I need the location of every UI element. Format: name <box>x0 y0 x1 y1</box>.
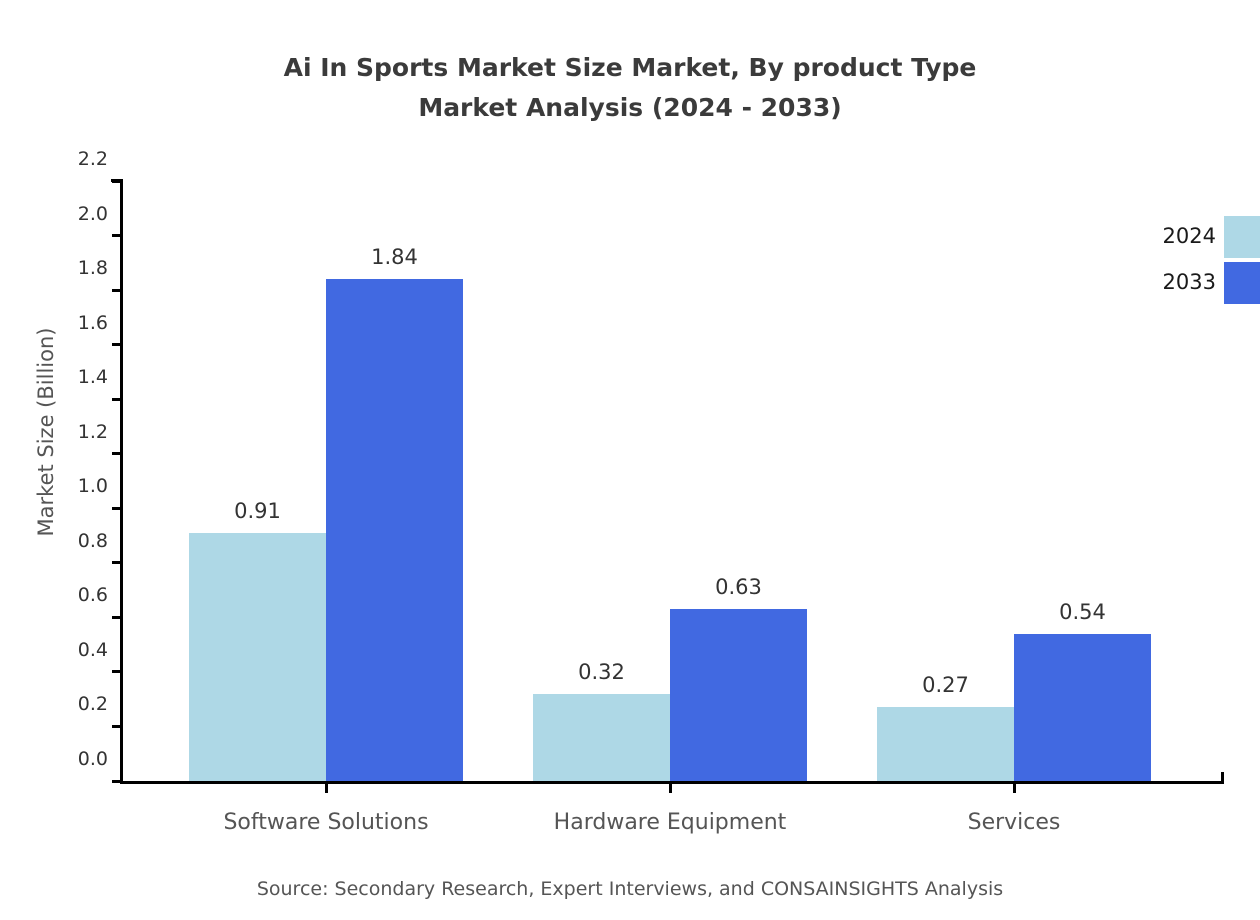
x-axis-tick-label-software-solutions: Software Solutions <box>156 810 496 835</box>
bar-value-label: 0.91 <box>178 499 338 523</box>
source-note: Source: Secondary Research, Expert Inter… <box>0 878 1260 900</box>
legend-swatch-2033 <box>1224 262 1260 304</box>
y-axis-tick-label: 1.0 <box>28 475 108 497</box>
y-axis-tick <box>112 616 121 619</box>
y-axis-tick <box>112 180 121 183</box>
bar-value-label: 1.84 <box>315 245 475 269</box>
legend-item-2033[interactable]: 2033 <box>1120 262 1260 304</box>
y-axis-tick <box>112 452 121 455</box>
y-axis-tick-label: 0.0 <box>28 748 108 770</box>
x-axis-spine <box>120 781 1223 784</box>
y-axis-tick-label: 0.2 <box>28 693 108 715</box>
chart-title: Ai In Sports Market Size Market, By prod… <box>0 48 1260 128</box>
y-axis-tick <box>112 234 121 237</box>
y-axis-tick <box>112 780 121 783</box>
chart-title-line-1: Ai In Sports Market Size Market, By prod… <box>0 48 1260 88</box>
legend-label-2033: 2033 <box>1163 270 1216 294</box>
y-axis-tick-label: 1.4 <box>28 366 108 388</box>
y-axis-tick <box>112 289 121 292</box>
x-axis-tick <box>325 782 328 793</box>
bar-value-label: 0.54 <box>1003 600 1163 624</box>
y-axis-tick <box>112 670 121 673</box>
y-axis-tick <box>112 343 121 346</box>
plot-area: 0.00.20.40.60.81.01.21.41.61.82.02.2 0.9… <box>122 181 1222 781</box>
y-axis-tick-label: 0.8 <box>28 530 108 552</box>
y-axis-tick-label: 2.0 <box>28 203 108 225</box>
bar-value-label: 0.27 <box>866 673 1026 697</box>
bar-value-label: 0.63 <box>659 575 819 599</box>
bar-2033-software-solutions[interactable] <box>326 279 463 781</box>
x-axis-tick-label-hardware-equipment: Hardware Equipment <box>500 810 840 835</box>
bar-value-label: 0.32 <box>522 660 682 684</box>
x-axis-tick <box>1013 782 1016 793</box>
legend-swatch-2024 <box>1224 216 1260 258</box>
y-axis-tick-label: 1.6 <box>28 312 108 334</box>
y-axis-tick-label: 2.2 <box>28 148 108 170</box>
legend-label-2024: 2024 <box>1163 224 1216 248</box>
y-axis-tick <box>112 507 121 510</box>
y-axis-tick-label: 1.8 <box>28 257 108 279</box>
y-axis-tick-label: 0.4 <box>28 639 108 661</box>
bar-2033-services[interactable] <box>1014 634 1151 781</box>
chart-legend: 2024 2033 <box>1120 216 1260 312</box>
chart-figure: Ai In Sports Market Size Market, By prod… <box>0 0 1260 920</box>
y-axis-tick <box>112 561 121 564</box>
legend-item-2024[interactable]: 2024 <box>1120 216 1260 258</box>
bar-2024-software-solutions[interactable] <box>189 533 326 781</box>
y-axis-tick <box>112 398 121 401</box>
bar-2024-services[interactable] <box>877 707 1014 781</box>
x-axis-tick <box>669 782 672 793</box>
y-axis-tick-label: 1.2 <box>28 421 108 443</box>
x-axis-tick-label-services: Services <box>844 810 1184 835</box>
bar-2024-hardware-equipment[interactable] <box>533 694 670 781</box>
bar-2033-hardware-equipment[interactable] <box>670 609 807 781</box>
y-axis-tick <box>112 725 121 728</box>
chart-title-line-2: Market Analysis (2024 - 2033) <box>0 88 1260 128</box>
x-axis-right-cap <box>1221 772 1224 784</box>
y-axis-tick-label: 0.6 <box>28 584 108 606</box>
y-axis-spine <box>120 179 123 783</box>
